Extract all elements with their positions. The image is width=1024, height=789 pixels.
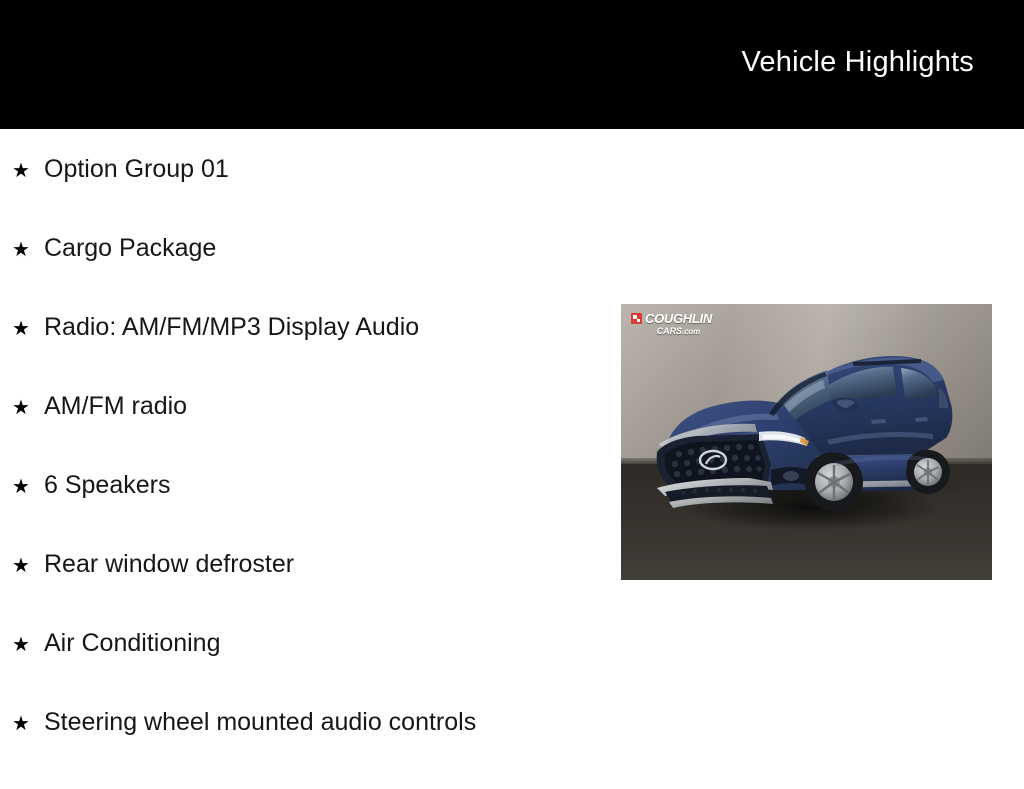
coughlin-logo-icon (631, 313, 642, 324)
list-item-label: Option Group 01 (44, 157, 229, 182)
star-icon: ★ (12, 161, 44, 181)
watermark-suffix-bold: CARS (657, 326, 682, 336)
star-icon: ★ (12, 398, 44, 418)
list-item: ★ Radio: AM/FM/MP3 Display Audio (0, 315, 620, 394)
header-band: Vehicle Highlights (0, 0, 1024, 129)
list-item-label: Radio: AM/FM/MP3 Display Audio (44, 315, 419, 340)
list-item: ★ Cargo Package (0, 236, 620, 315)
list-item: ★ 6 Speakers (0, 473, 620, 552)
dealer-watermark: COUGHLIN CARS.com (631, 312, 712, 336)
list-item: ★ Option Group 01 (0, 129, 620, 236)
watermark-text: COUGHLIN CARS.com (645, 312, 712, 336)
page-title: Vehicle Highlights (741, 48, 974, 77)
list-item-label: 6 Speakers (44, 473, 170, 498)
suv-illustration (621, 304, 992, 580)
list-item: ★ Rear window defroster (0, 552, 620, 631)
list-item: ★ AM/FM radio (0, 394, 620, 473)
watermark-suffix-domain: .com (682, 327, 700, 336)
watermark-brand: COUGHLIN (645, 312, 712, 325)
star-icon: ★ (12, 319, 44, 339)
star-icon: ★ (12, 556, 44, 576)
star-icon: ★ (12, 477, 44, 497)
list-item: ★ Air Conditioning (0, 631, 620, 710)
star-icon: ★ (12, 240, 44, 260)
list-item-label: AM/FM radio (44, 394, 187, 419)
star-icon: ★ (12, 714, 44, 734)
watermark-suffix: CARS.com (645, 327, 712, 336)
list-item-label: Cargo Package (44, 236, 216, 261)
list-item-label: Rear window defroster (44, 552, 294, 577)
vehicle-highlights-list: ★ Option Group 01 ★ Cargo Package ★ Radi… (0, 129, 620, 789)
list-item: ★ Steering wheel mounted audio controls (0, 710, 620, 789)
star-icon: ★ (12, 635, 44, 655)
vehicle-photo[interactable]: COUGHLIN CARS.com (621, 304, 992, 580)
list-item-label: Air Conditioning (44, 631, 221, 656)
list-item-label: Steering wheel mounted audio controls (44, 710, 476, 735)
